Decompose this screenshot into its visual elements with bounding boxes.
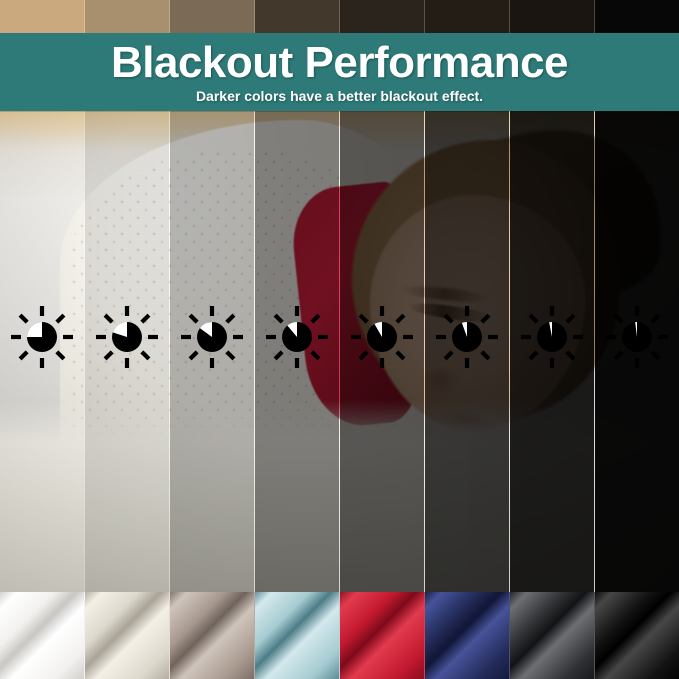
- fabric-sheen: [595, 592, 679, 679]
- fabric-swatch-red[interactable]: [340, 592, 425, 679]
- fabric-sheen: [85, 592, 170, 679]
- page-title: Blackout Performance: [111, 40, 568, 86]
- color-chip-khaki: [85, 0, 170, 33]
- fabric-swatch-taupe[interactable]: [170, 592, 255, 679]
- sun-brightness-icon: [7, 302, 77, 372]
- fabric-sheen: [425, 592, 510, 679]
- sun-brightness-icon: [92, 302, 162, 372]
- color-chip-taupe: [170, 0, 255, 33]
- fabric-swatch-black[interactable]: [595, 592, 679, 679]
- fabric-swatch-light-blue[interactable]: [255, 592, 340, 679]
- fabric-sheen: [510, 592, 595, 679]
- color-chip-black: [595, 0, 679, 33]
- sun-brightness-icon: [432, 302, 502, 372]
- fabric-swatch-dark-gray[interactable]: [510, 592, 595, 679]
- fabric-sheen: [170, 592, 255, 679]
- fabric-swatch-white[interactable]: [0, 592, 85, 679]
- color-chip-dark-brown: [255, 0, 340, 33]
- sun-brightness-icon: [262, 302, 332, 372]
- fabric-swatch-navy[interactable]: [425, 592, 510, 679]
- fabric-swatch-ivory[interactable]: [85, 592, 170, 679]
- fabric-sheen: [255, 592, 340, 679]
- blackout-performance-infographic: Blackout Performance Darker colors have …: [0, 0, 679, 679]
- color-chip-deep-brown: [340, 0, 425, 33]
- fabric-sheen: [340, 592, 425, 679]
- page-subtitle: Darker colors have a better blackout eff…: [196, 88, 483, 105]
- fabric-swatch-strip: [0, 592, 679, 679]
- color-chip-espresso: [425, 0, 510, 33]
- sun-brightness-icon: [602, 302, 672, 372]
- sun-brightness-icon: [177, 302, 247, 372]
- top-color-chip-strip: [0, 0, 679, 33]
- sun-brightness-icon: [347, 302, 417, 372]
- color-chip-tan: [0, 0, 85, 33]
- title-banner: Blackout Performance Darker colors have …: [0, 33, 679, 111]
- sun-brightness-icon: [517, 302, 587, 372]
- fabric-sheen: [0, 592, 85, 679]
- color-chip-near-black-brown: [510, 0, 595, 33]
